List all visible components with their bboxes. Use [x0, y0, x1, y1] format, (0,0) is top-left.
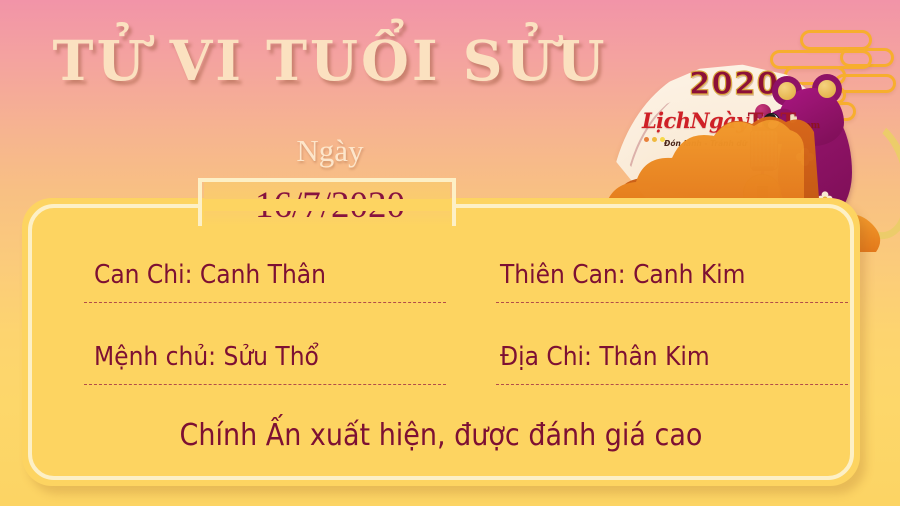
- logo-tagline: Đón lành - Tránh dữ: [642, 139, 802, 148]
- row-divider: [84, 302, 446, 303]
- horoscope-card-image: 2020 Lịch: [0, 0, 900, 506]
- logo-text-tot: T: [748, 108, 764, 133]
- yinyang-icon: [763, 113, 780, 130]
- row-divider: [496, 302, 848, 303]
- page-title: TỬ VI TUỔI SỬU: [0, 28, 660, 93]
- summary-text: Chính Ấn xuất hiện, được đánh giá cao: [28, 418, 854, 453]
- row-divider: [84, 384, 446, 385]
- logo-text-ngay: Ngày: [690, 108, 747, 133]
- date-label: Ngày: [0, 133, 660, 169]
- info-row-dia-chi: Địa Chi: Thân Kim: [500, 342, 710, 372]
- rat-inner-ear-right: [818, 80, 836, 98]
- rat-inner-ear-left: [778, 82, 796, 100]
- logo-wordmark: LịchNgàyTT.com: [642, 110, 802, 137]
- logo-text-lich: Lịch: [642, 108, 690, 133]
- logo-text-tot-tail: T: [780, 108, 796, 133]
- info-row-can-chi: Can Chi: Canh Thân: [94, 260, 326, 290]
- info-row-thien-can: Thiên Can: Canh Kim: [500, 260, 745, 290]
- logo-text-domain: .com: [796, 121, 820, 131]
- row-divider: [496, 384, 848, 385]
- site-logo[interactable]: LịchNgàyTT.com Đón lành - Tránh dữ: [642, 110, 802, 158]
- info-row-menh-chu: Mệnh chủ: Sửu Thổ: [94, 342, 319, 372]
- info-grid: Can Chi: Canh Thân Thiên Can: Canh Kim M…: [28, 206, 854, 480]
